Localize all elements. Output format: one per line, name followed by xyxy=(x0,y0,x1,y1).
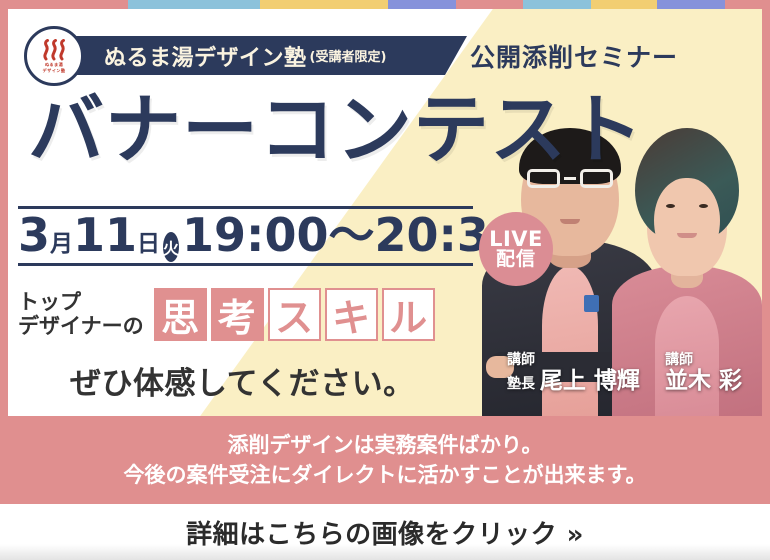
male-lapel-pin xyxy=(584,295,599,312)
event-datetime: 3 月 11 日 火 19:00〜20:30 xyxy=(18,206,473,266)
onsen-steam-icon xyxy=(41,39,67,61)
skill-chip-3: ス xyxy=(268,288,321,341)
skill-chip-4: キ xyxy=(325,288,378,341)
skills-lead-label: トップ デザイナーの xyxy=(18,291,144,338)
live-stream-badge: LIVE 配信 xyxy=(479,212,553,286)
brand-logo: ぬるま湯 デザイン塾 xyxy=(24,26,84,86)
instructor-role-female: 講師 xyxy=(665,352,742,368)
message-line-2: 今後の案件受注にダイレクトに活かすことが出来ます。 xyxy=(124,460,647,490)
seminar-kicker: 公開添削セミナー xyxy=(470,38,678,74)
brand-note: (受講者限定) xyxy=(310,46,387,65)
seminar-banner[interactable]: ぬるま湯 デザイン塾 ぬるま湯デザイン塾 (受講者限定) 公開添削セミナー バナ… xyxy=(0,0,770,560)
live-badge-line1: LIVE xyxy=(489,228,543,250)
event-day-unit: 日 xyxy=(137,233,160,256)
decorative-color-strip xyxy=(0,0,770,9)
left-pink-rail xyxy=(0,9,8,416)
instructor-fullname-male: 尾上 博輝 xyxy=(540,368,640,394)
color-strip-segment-4 xyxy=(388,0,456,9)
female-mouth xyxy=(677,233,697,238)
skill-chip-5: ル xyxy=(382,288,435,341)
color-strip-segment-8 xyxy=(657,0,725,9)
female-face-front xyxy=(654,178,720,266)
color-strip-segment-7 xyxy=(591,0,657,9)
skill-chip-group: 思考スキル xyxy=(150,288,435,341)
message-line-1: 添削デザインは実務案件ばかり。 xyxy=(228,430,543,460)
skills-lead-line2: デザイナーの xyxy=(18,315,144,339)
instructor-caption-female: 講師 並木 彩 xyxy=(665,352,742,395)
page-title: バナーコンテスト xyxy=(28,92,748,168)
cta-bar[interactable]: 詳細はこちらの画像をクリック » xyxy=(0,504,770,560)
color-strip-segment-3 xyxy=(260,0,388,9)
event-time: 19:00〜20:30 xyxy=(182,212,521,258)
color-strip-segment-6 xyxy=(523,0,591,9)
instructor-title-male: 塾長 xyxy=(507,376,540,392)
cta-label[interactable]: 詳細はこちらの画像をクリック » xyxy=(186,514,584,551)
brand-ribbon: ぬるま湯デザイン塾 (受講者限定) xyxy=(52,36,467,75)
event-month-unit: 月 xyxy=(50,233,73,256)
brand-name: ぬるま湯デザイン塾 xyxy=(104,40,307,72)
logo-caption-line1: ぬるま湯 xyxy=(45,62,63,67)
tagline: ぜひ体感してください。 xyxy=(70,358,415,403)
skills-row: トップ デザイナーの 思考スキル xyxy=(18,288,435,341)
instructor-name-female: 並木 彩 xyxy=(665,368,742,394)
event-weekday-badge: 火 xyxy=(163,232,179,262)
color-strip-segment-9 xyxy=(725,0,770,9)
event-day: 11 xyxy=(73,212,137,258)
skill-chip-2: 考 xyxy=(211,288,264,341)
skills-lead-line1: トップ xyxy=(18,290,81,314)
color-strip-segment-2 xyxy=(128,0,260,9)
color-strip-segment-5 xyxy=(456,0,522,9)
event-month: 3 xyxy=(18,212,50,258)
color-strip-segment-1 xyxy=(0,0,128,9)
instructor-role-male: 講師 xyxy=(507,352,640,368)
male-mouth xyxy=(560,219,580,224)
skill-chip-1: 思 xyxy=(154,288,207,341)
instructor-caption-male: 講師 塾長 尾上 博輝 xyxy=(507,352,640,395)
female-eye-left xyxy=(666,204,675,208)
logo-caption-line2: デザイン塾 xyxy=(43,68,66,73)
instructor-name-male: 塾長 尾上 博輝 xyxy=(507,368,640,394)
right-pink-rail xyxy=(762,9,770,416)
live-badge-line2: 配信 xyxy=(496,250,536,270)
female-eye-right xyxy=(699,204,708,208)
message-band: 添削デザインは実務案件ばかり。 今後の案件受注にダイレクトに活かすことが出来ます… xyxy=(0,416,770,504)
